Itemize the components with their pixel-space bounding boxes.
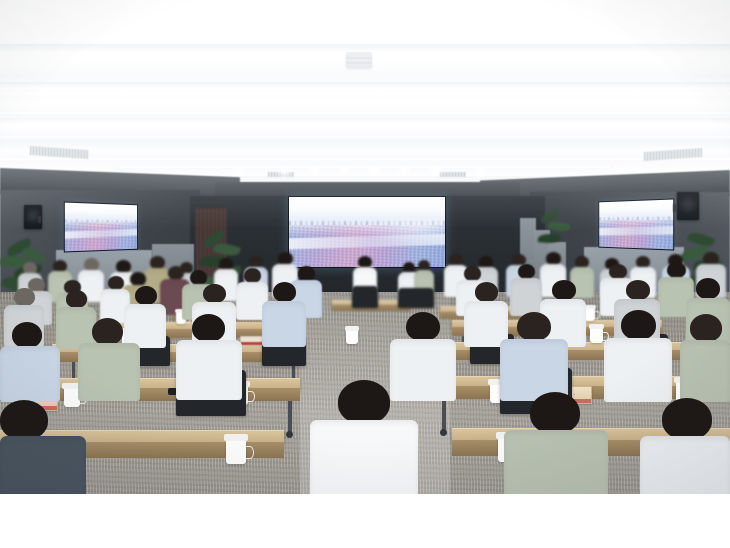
head <box>298 266 315 281</box>
recessed-downlight <box>402 168 407 173</box>
ceiling-band-2 <box>0 82 730 88</box>
linear-light-strip <box>0 104 730 108</box>
side-led-screen-right[interactable] <box>598 198 674 250</box>
head <box>406 312 440 341</box>
desk-caster <box>440 429 447 436</box>
torso <box>0 436 86 494</box>
head <box>190 270 207 285</box>
side-led-screen-left[interactable] <box>64 201 138 252</box>
torso <box>262 301 306 347</box>
recessed-downlight <box>236 170 241 175</box>
torso <box>0 346 60 402</box>
head <box>338 380 390 424</box>
chair <box>398 288 434 308</box>
desk-caster <box>286 431 293 438</box>
head <box>108 276 124 290</box>
torso <box>510 278 542 316</box>
screen-city-texture <box>599 220 673 249</box>
linear-light-strip <box>120 166 610 168</box>
screen-river <box>598 226 674 235</box>
linear-light-strip <box>0 92 730 95</box>
conference-room-photograph: · · · <box>0 0 730 494</box>
head <box>626 280 650 300</box>
linear-light-strip <box>0 112 730 114</box>
head <box>530 392 580 434</box>
head <box>273 282 296 302</box>
air-vent-grille <box>268 172 294 177</box>
head <box>130 272 146 286</box>
ceiling-projector <box>346 52 372 68</box>
head <box>92 318 123 345</box>
recessed-downlight <box>372 168 377 173</box>
torso <box>310 420 418 494</box>
head <box>203 284 226 303</box>
torso <box>78 343 140 401</box>
attendee <box>0 322 60 408</box>
desk-leg <box>288 401 292 433</box>
ceiling <box>0 0 730 176</box>
attendee <box>680 314 730 406</box>
head <box>552 280 576 300</box>
head <box>244 268 261 283</box>
photo-page: · · · <box>0 0 730 548</box>
plant-leaf <box>538 233 561 244</box>
plant-leaf <box>547 219 571 233</box>
head <box>621 310 656 340</box>
teacup-with-lid <box>346 330 358 344</box>
head <box>696 278 720 299</box>
head <box>667 262 686 278</box>
head <box>662 398 712 440</box>
cup-handle <box>248 391 255 402</box>
linear-light-strip <box>0 126 730 129</box>
chair <box>352 286 378 308</box>
screen-highlight <box>351 218 445 246</box>
recessed-downlight <box>432 168 437 173</box>
linear-light-strip <box>0 158 730 160</box>
torso <box>504 430 608 494</box>
recessed-downlight <box>282 168 287 173</box>
teacup-with-lid <box>590 328 603 343</box>
recessed-downlight <box>312 168 317 173</box>
cup-lid <box>589 324 604 329</box>
head <box>135 286 157 305</box>
potted-plant-far-right <box>538 208 572 258</box>
wall-speaker-right <box>677 192 699 220</box>
linear-light-strip <box>0 150 730 153</box>
torso <box>680 340 730 402</box>
head <box>690 314 722 342</box>
head <box>0 400 48 440</box>
attendee <box>78 318 140 406</box>
head <box>192 314 225 342</box>
head <box>66 290 87 308</box>
attendee <box>604 310 672 406</box>
recessed-downlight <box>342 168 347 173</box>
speaker-mount-left <box>38 216 41 223</box>
attendee <box>640 398 730 494</box>
head <box>12 322 42 348</box>
attendee <box>176 314 242 406</box>
head <box>518 264 535 279</box>
ceiling-band-3 <box>0 118 730 123</box>
page-bottom-whitespace <box>0 494 730 548</box>
head <box>517 312 551 341</box>
torso <box>176 340 242 400</box>
cup-handle <box>246 446 254 459</box>
head <box>609 264 627 279</box>
teacup-with-lid <box>226 440 246 464</box>
cup-lid <box>345 326 359 331</box>
linear-light-strip <box>0 136 730 138</box>
cup-lid <box>224 434 248 441</box>
attendee <box>0 400 86 494</box>
torso <box>604 338 672 402</box>
ceiling-band-1 <box>0 44 730 51</box>
attendee <box>504 392 608 494</box>
recessed-downlight <box>478 170 483 175</box>
head <box>464 266 481 281</box>
torso <box>640 436 730 494</box>
head <box>14 288 35 306</box>
head <box>475 282 498 302</box>
attendee <box>310 380 418 494</box>
speaker-mount-right <box>673 204 676 212</box>
air-vent-grille <box>440 172 466 177</box>
attendee <box>262 282 306 360</box>
